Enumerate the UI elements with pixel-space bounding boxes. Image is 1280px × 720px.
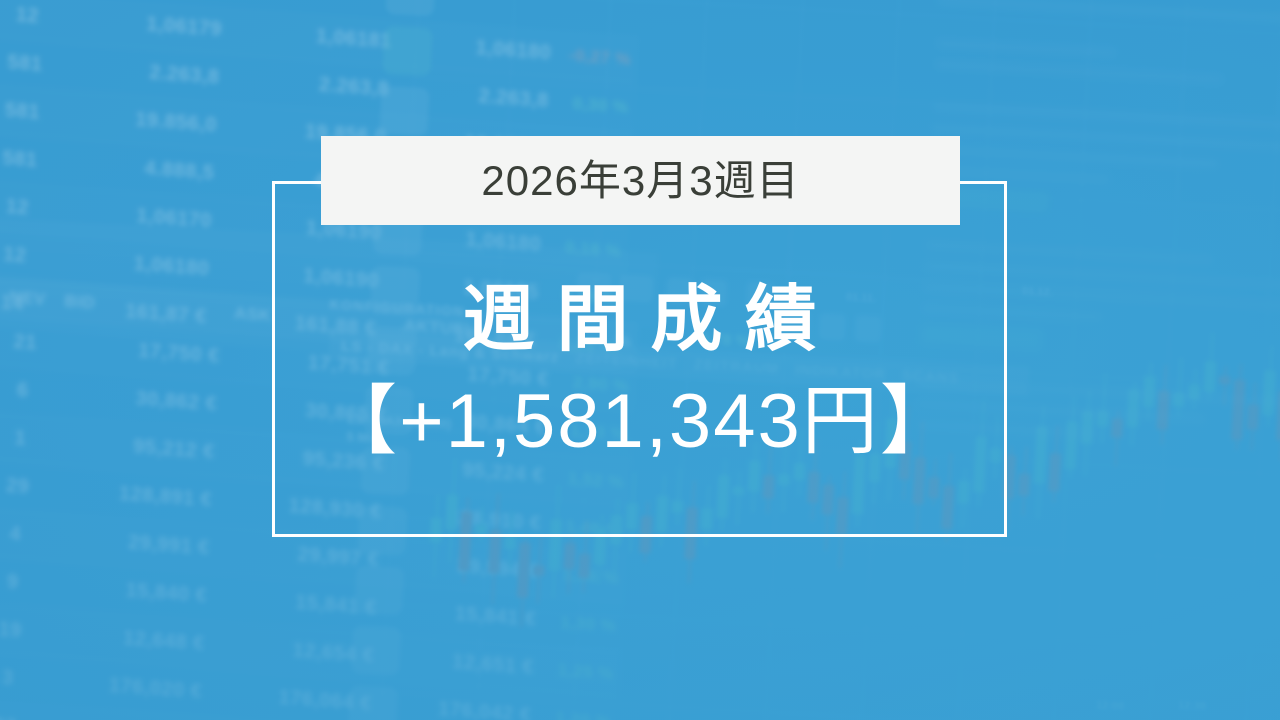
title-banner: 2026年3月3週目 <box>321 136 960 225</box>
screenshot-canvas: 965275121,061791,061811,06180-0,27 %0AET… <box>0 0 1280 720</box>
headline-text: 週間成績 <box>272 283 1007 359</box>
title-banner-text: 2026年3月3週目 <box>481 160 799 202</box>
amount-text: 【+1,581,343円】 <box>272 382 1007 462</box>
